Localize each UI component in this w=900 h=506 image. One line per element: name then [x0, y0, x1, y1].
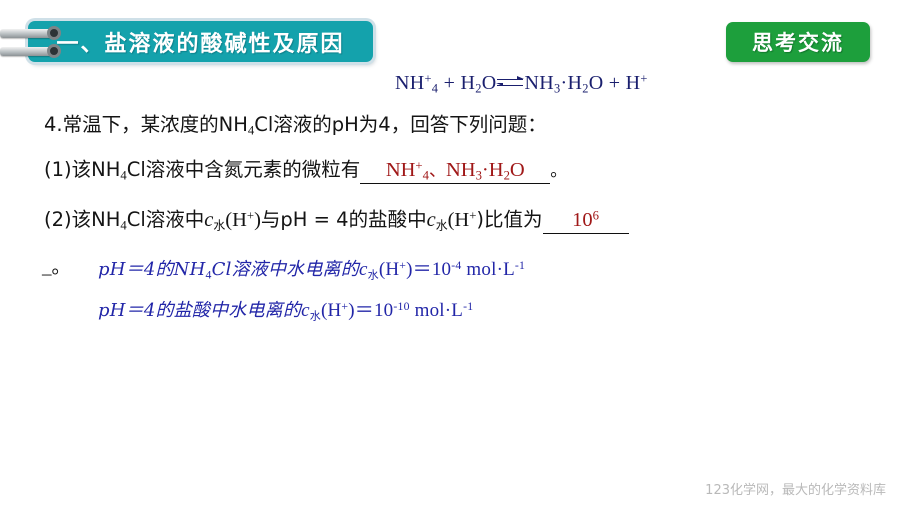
section-title-text: 一、盐溶液的酸碱性及原因: [56, 26, 344, 58]
item2-proton-arg-1: (H+): [225, 209, 261, 231]
item1-prefix-b: Cl溶液中含氮元素的微粒有: [127, 158, 361, 181]
explanation-line-1: pH＝4的NH4Cl溶液中水电离的c水(H+)＝10-4 mol·L-1: [98, 254, 525, 281]
section-title-banner: 一、盐溶液的酸碱性及原因: [28, 21, 373, 62]
hydrolysis-equation: NH+4 + H2ONH3·H2O + H+: [395, 72, 648, 95]
answer-blank-1[interactable]: NH+4、NH3·H2O: [360, 156, 550, 184]
answer-1-separator: 、: [429, 161, 446, 181]
question-item-2: (2)该NH4Cl溶液中c水(H+)与pH = 4的盐酸中c水(H+)比值为10…: [44, 203, 629, 234]
equilibrium-arrow-icon: [497, 77, 523, 91]
item2-c-subscript-2: 水: [436, 219, 448, 233]
explain2-prefix: pH＝4的盐酸中水电离的: [98, 300, 301, 321]
item2-c-water-symbol-2: c: [427, 209, 436, 231]
explain1-prefix: pH＝4的NH: [98, 259, 206, 280]
question-stem-part-b: Cl溶液的pH为4，回答下列问题：: [254, 113, 546, 136]
item2-prefix-b: Cl溶液中: [127, 208, 205, 231]
footer-watermark: 123化学网，最大的化学资料库: [705, 479, 886, 498]
equation-reactant-water: H2O: [460, 72, 496, 94]
item2-tail: )比值为: [476, 208, 542, 231]
explain1-value: (H+)＝10-4 mol·L-1: [379, 259, 525, 280]
question-stem-part-a: 4.常温下，某浓度的NH: [44, 113, 248, 136]
explain2-c-symbol: c: [301, 300, 310, 321]
binder-ring-icon: [0, 47, 56, 56]
item2-prefix-a: (2)该NH: [44, 208, 120, 231]
question-stem: 4.常温下，某浓度的NH4Cl溶液的pH为4，回答下列问题：: [44, 108, 547, 137]
item1-suffix: 。: [550, 161, 567, 181]
item2-proton-arg-2: (H+: [448, 209, 477, 231]
item2-suffix-wrapped: _。: [42, 252, 71, 279]
binder-ring-icon: [0, 29, 56, 38]
answer-1-ammonium: NH+4: [386, 159, 429, 181]
explain2-value: (H+)＝10-10 mol·L-1: [321, 300, 473, 321]
explain1-c-symbol: c: [359, 259, 368, 280]
question-item-1: (1)该NH4Cl溶液中含氮元素的微粒有NH+4、NH3·H2O。: [44, 153, 567, 184]
equation-reactant-ammonium: NH+4: [395, 72, 438, 94]
explain2-c-subscript: 水: [310, 309, 321, 322]
explanation-line-2: pH＝4的盐酸中水电离的c水(H+)＝10-10 mol·L-1: [98, 295, 473, 322]
answer-blank-2[interactable]: 106: [543, 209, 629, 234]
item2-mid: 与pH = 4的盐酸中: [261, 208, 427, 231]
item1-prefix-a: (1)该NH: [44, 158, 120, 181]
item2-c-subscript-1: 水: [213, 219, 225, 233]
equation-plus-1: +: [438, 72, 460, 94]
equation-product-proton: + H+: [603, 72, 647, 94]
explain1-mid: Cl溶液中水电离的: [212, 259, 359, 280]
answer-1-ammonia-hydrate: NH3·H2O: [446, 159, 525, 181]
equation-product-ammonia-hydrate: NH3·H2O: [524, 72, 603, 94]
explain1-c-subscript: 水: [368, 268, 379, 281]
think-discuss-label: 思考交流: [752, 27, 844, 57]
think-discuss-badge: 思考交流: [726, 22, 870, 62]
